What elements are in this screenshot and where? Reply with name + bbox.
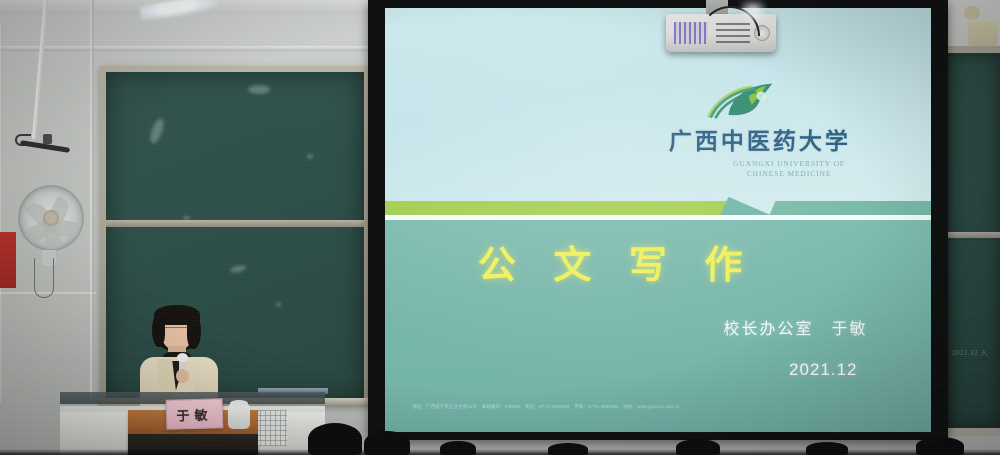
slide-title: 公 文 写 作	[478, 234, 838, 289]
water-cup-lid	[230, 400, 248, 407]
logo-chinese-name: 广西中医药大学	[669, 122, 909, 156]
slide-accent-notch	[719, 197, 777, 217]
lecture-hall-scene: 2021.12 入	[0, 0, 1000, 455]
wall-clock-icon	[964, 6, 980, 20]
chalkboard-right-divider	[948, 232, 1000, 238]
red-banner	[0, 232, 16, 288]
presentation-slide: 广西中医药大学 GUANGXI UNIVERSITY OF CHINESE ME…	[385, 8, 931, 432]
water-cup[interactable]	[228, 404, 250, 429]
microphone-head-icon	[177, 353, 188, 362]
chalkboard-right	[948, 46, 1000, 436]
slide-date: 2021.12	[789, 360, 857, 380]
slide-author: 校长办公室 于敏	[724, 315, 868, 339]
wall-moulding	[0, 46, 372, 51]
chalkboard-divider	[106, 220, 364, 227]
podium-vent-grid	[255, 410, 287, 446]
wall-speaker-box	[968, 22, 998, 46]
fan-pull-cord[interactable]	[34, 258, 54, 298]
fan-hub	[43, 210, 59, 226]
wall-mounted-fan	[18, 185, 84, 251]
logo-english-line1: GUANGXI UNIVERSITY OF	[669, 159, 909, 168]
chalk-smudge	[148, 117, 166, 145]
chalk-smudge	[229, 264, 246, 274]
presenter-hand	[176, 369, 189, 383]
chalkboard-right-text: 2021.12 入	[952, 348, 1000, 358]
leaf-emblem-icon	[705, 80, 791, 120]
projector-lamp-glow	[740, 0, 766, 22]
audience-row-shadow	[0, 449, 1000, 455]
projection-screen[interactable]: 广西中医药大学 GUANGXI UNIVERSITY OF CHINESE ME…	[385, 8, 931, 432]
glasses-icon	[163, 327, 191, 334]
wall-seam	[90, 0, 94, 400]
slide-accent-bar	[385, 201, 931, 215]
chalk-smudge	[248, 85, 270, 94]
wall-seam-outer	[0, 22, 3, 402]
chalk-smudge	[307, 154, 313, 159]
slide-footer-contact: 地址：广西南宁市五合大道13号 邮政编码：530200 电话：0771-4953…	[412, 404, 685, 411]
name-card-text: 于敏	[176, 404, 213, 424]
logo-english-line2: CHINESE MEDICINE	[669, 169, 909, 178]
name-card: 于敏	[166, 398, 224, 429]
chalk-smudge	[276, 302, 281, 307]
university-logo: 广西中医药大学 GUANGXI UNIVERSITY OF CHINESE ME…	[669, 80, 909, 178]
pole-knob	[43, 134, 52, 144]
